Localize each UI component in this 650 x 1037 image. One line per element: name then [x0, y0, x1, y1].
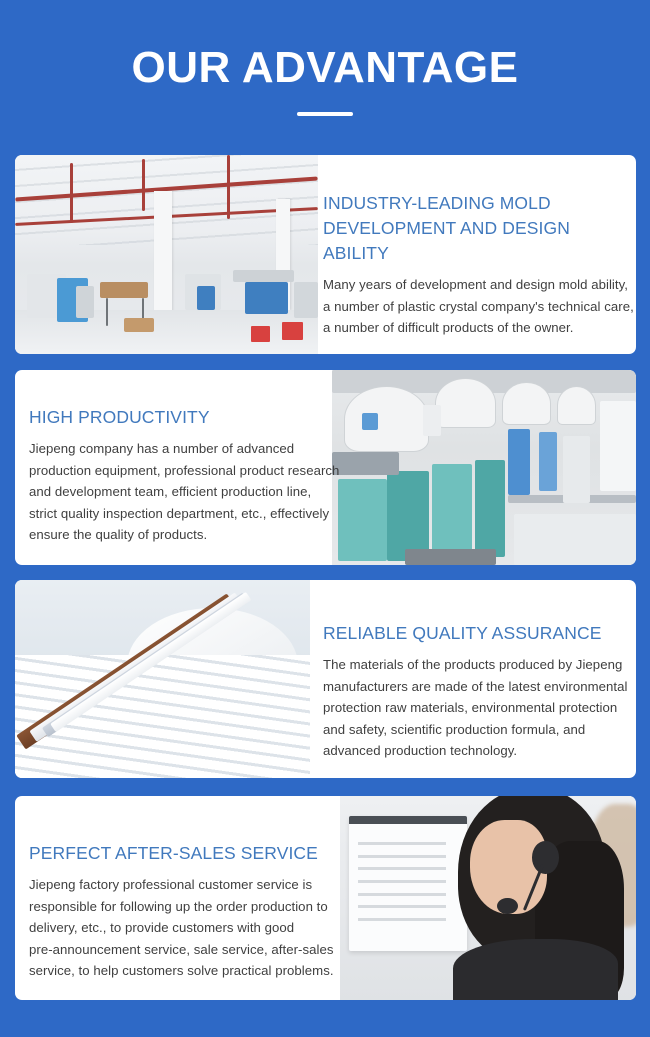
card-1-heading-line-2: DEVELOPMENT AND DESIGN ABILITY	[323, 218, 570, 263]
customer-service-photo	[340, 796, 636, 1000]
card-3-text-line-1: The materials of the products produced b…	[323, 654, 631, 676]
card-3-text-line-5: advanced production technology.	[323, 740, 631, 762]
card-3-body: RELIABLE QUALITY ASSURANCE The materials…	[323, 621, 631, 762]
card-2-text-line-4: strict quality inspection department, et…	[29, 503, 329, 525]
card-4-text-line-2: responsible for following up the order p…	[29, 896, 329, 918]
card-1-text: Many years of development and design mol…	[323, 274, 628, 339]
card-2-body: HIGH PRODUCTIVITY Jiepeng company has a …	[29, 405, 329, 546]
card-4-text: Jiepeng factory professional customer se…	[29, 874, 329, 982]
advantage-card-2: HIGH PRODUCTIVITY Jiepeng company has a …	[15, 370, 636, 565]
card-4-text-line-3: delivery, etc., to provide customers wit…	[29, 917, 329, 939]
card-3-text: The materials of the products produced b…	[323, 654, 631, 762]
card-1-text-line-3: a number of difficult products of the ow…	[323, 317, 628, 339]
card-2-text-line-2: production equipment, professional produ…	[29, 460, 329, 482]
advantage-card-1: INDUSTRY-LEADING MOLD DEVELOPMENT AND DE…	[15, 155, 636, 354]
card-4-text-line-5: service, to help customers solve practic…	[29, 960, 329, 982]
card-2-text-line-1: Jiepeng company has a number of advanced	[29, 438, 329, 460]
card-2-heading: HIGH PRODUCTIVITY	[29, 405, 329, 430]
card-3-text-line-3: protection raw materials, environmental …	[323, 697, 631, 719]
card-2-text-line-3: and development team, efficient producti…	[29, 481, 329, 503]
card-3-heading: RELIABLE QUALITY ASSURANCE	[323, 621, 631, 646]
factory-workshop-photo	[15, 155, 318, 354]
card-1-text-line-1: Many years of development and design mol…	[323, 274, 628, 296]
card-1-body: INDUSTRY-LEADING MOLD DEVELOPMENT AND DE…	[323, 191, 628, 339]
card-4-heading: PERFECT AFTER-SALES SERVICE	[29, 841, 329, 866]
card-4-text-line-1: Jiepeng factory professional customer se…	[29, 874, 329, 896]
card-4-text-line-4: pre-announcement service, sale service, …	[29, 939, 329, 961]
advantage-card-4: PERFECT AFTER-SALES SERVICE Jiepeng fact…	[15, 796, 636, 1000]
advantage-section: OUR ADVANTAGE	[0, 0, 650, 1037]
card-1-heading-line-1: INDUSTRY-LEADING MOLD	[323, 193, 551, 213]
advantage-card-3: RELIABLE QUALITY ASSURANCE The materials…	[15, 580, 636, 778]
card-4-body: PERFECT AFTER-SALES SERVICE Jiepeng fact…	[29, 841, 329, 982]
production-line-photo	[332, 370, 636, 565]
card-2-text-line-5: ensure the quality of products.	[29, 524, 329, 546]
profile-product-photo	[15, 580, 310, 778]
card-2-text: Jiepeng company has a number of advanced…	[29, 438, 329, 546]
card-3-text-line-2: manufacturers are made of the latest env…	[323, 676, 631, 698]
card-1-heading: INDUSTRY-LEADING MOLD DEVELOPMENT AND DE…	[323, 191, 628, 266]
card-4-heading-line-1: PERFECT AFTER-SALES SERVICE	[29, 843, 318, 863]
card-3-heading-line-1: RELIABLE QUALITY ASSURANCE	[323, 623, 602, 643]
title-underline	[297, 112, 353, 116]
card-1-text-line-2: a number of plastic crystal company's te…	[323, 296, 628, 318]
page-title: OUR ADVANTAGE	[0, 42, 650, 94]
card-2-heading-line-1: HIGH PRODUCTIVITY	[29, 407, 210, 427]
card-3-text-line-4: and safety, scientific production formul…	[323, 719, 631, 741]
